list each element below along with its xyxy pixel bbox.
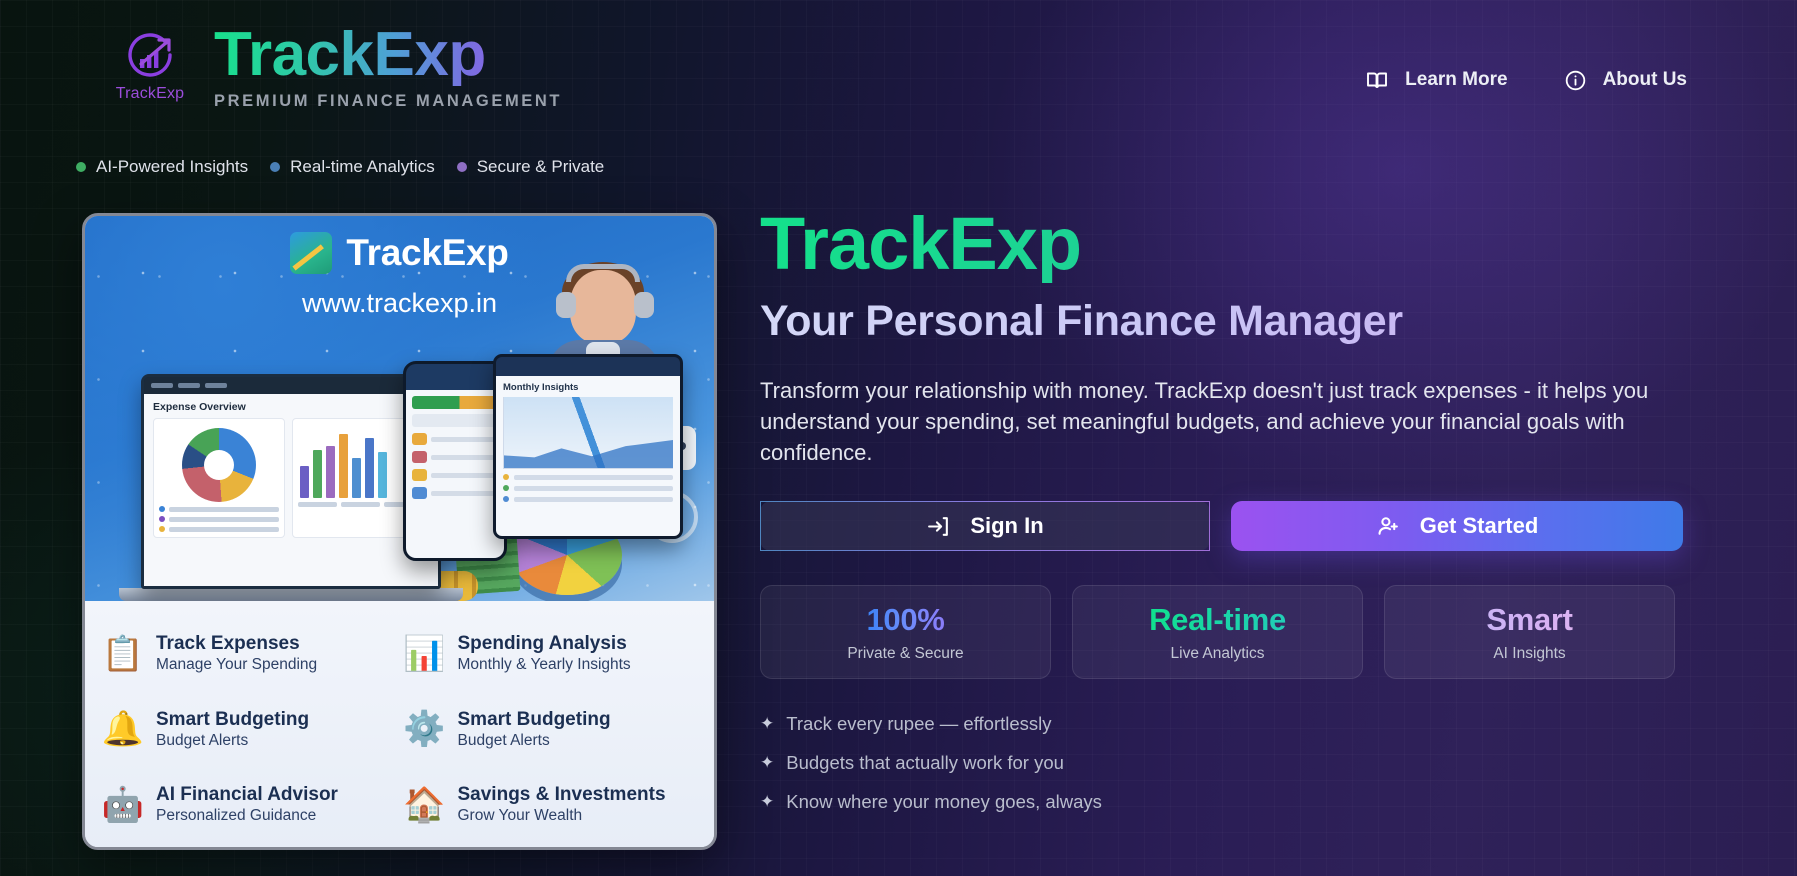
clipboard-icon: 📋: [101, 637, 145, 671]
hero-paragraph: Transform your relationship with money. …: [760, 375, 1660, 469]
book-icon: [1365, 68, 1389, 92]
feature-pills: AI-Powered Insights Real-time Analytics …: [76, 157, 604, 177]
tablet-dashboard-title: Monthly Insights: [503, 382, 673, 393]
promo-feature-item: 🤖 AI Financial Advisor Personalized Guid…: [101, 770, 397, 840]
promo-feature-title: Smart Budgeting: [156, 709, 309, 730]
promo-feature-title: Spending Analysis: [458, 633, 627, 654]
main-nav: Learn More About Us: [1365, 68, 1687, 92]
hero-section: TrackExp Your Personal Finance Manager T…: [760, 205, 1690, 813]
list-item: ✦ Budgets that actually work for you: [760, 752, 1690, 774]
stat-value: Real-time: [1149, 602, 1286, 638]
laptop-dashboard-title: Expense Overview: [153, 401, 429, 413]
promo-feature-item: ⚙️ Smart Budgeting Budget Alerts: [403, 695, 699, 765]
promo-feature-sub: Personalized Guidance: [156, 807, 338, 826]
promo-feature-grid: 📋 Track Expenses Manage Your Spending 📊 …: [85, 601, 714, 850]
pill-ai-powered-insights: AI-Powered Insights: [76, 157, 248, 177]
logo-wordmark: TrackExp: [116, 85, 185, 103]
stat-label: Private & Secure: [847, 645, 963, 663]
donut-chart: [182, 428, 256, 502]
promo-logo-icon: [290, 232, 332, 274]
stat-value: Smart: [1486, 602, 1572, 638]
stat-card-live-analytics: Real-time Live Analytics: [1072, 585, 1363, 679]
sign-in-button[interactable]: Sign In: [760, 501, 1210, 551]
page-header: TrackExp TrackExp PREMIUM FINANCE MANAGE…: [0, 0, 1797, 140]
promo-feature-sub: Grow Your Wealth: [458, 807, 666, 826]
brand-subtitle: PREMIUM FINANCE MANAGEMENT: [214, 92, 562, 111]
promo-feature-title: Savings & Investments: [458, 784, 666, 805]
bar-chart-icon: 📊: [403, 637, 447, 671]
get-started-label: Get Started: [1420, 513, 1539, 539]
promo-feature-sub: Budget Alerts: [156, 732, 309, 751]
nav-learn-more-label: Learn More: [1405, 69, 1507, 91]
laptop-base: [119, 588, 463, 601]
promo-image: TrackExp www.trackexp.in Expense Overvie…: [82, 213, 717, 850]
page-title: TrackExp: [214, 24, 562, 86]
promo-feature-sub: Monthly & Yearly Insights: [458, 656, 631, 675]
promo-feature-item: 📊 Spending Analysis Monthly & Yearly Ins…: [403, 619, 699, 689]
list-item: ✦ Track every rupee — effortlessly: [760, 713, 1690, 735]
stat-label: Live Analytics: [1171, 645, 1265, 663]
bullet-text: Know where your money goes, always: [786, 791, 1102, 813]
pill-secure-private: Secure & Private: [457, 157, 605, 177]
sparkle-icon: ✦: [760, 792, 774, 812]
promo-feature-title: AI Financial Advisor: [156, 784, 338, 805]
stat-card-ai-insights: Smart AI Insights: [1384, 585, 1675, 679]
phone-mockup: [403, 361, 507, 561]
user-plus-icon: [1376, 514, 1401, 539]
laptop-mockup: Expense Overview: [141, 374, 441, 589]
pill-label: Real-time Analytics: [290, 157, 435, 177]
hero-subtitle: Your Personal Finance Manager: [760, 297, 1690, 346]
cta-row: Sign In Get Started: [760, 501, 1690, 551]
promo-feature-item: 📋 Track Expenses Manage Your Spending: [101, 619, 397, 689]
gear-icon: ⚙️: [403, 712, 447, 746]
sparkle-icon: ✦: [760, 753, 774, 773]
promo-feature-sub: Budget Alerts: [458, 732, 611, 751]
bullet-text: Track every rupee — effortlessly: [786, 713, 1051, 735]
bell-icon: 🔔: [101, 712, 145, 746]
chart-circle-arrow-icon: [122, 31, 178, 83]
nav-learn-more[interactable]: Learn More: [1365, 68, 1507, 92]
robot-icon: 🤖: [101, 788, 145, 822]
pill-label: Secure & Private: [477, 157, 605, 177]
status-dot: [457, 162, 467, 172]
promo-banner: TrackExp www.trackexp.in Expense Overvie…: [85, 216, 714, 601]
hero-bullet-list: ✦ Track every rupee — effortlessly ✦ Bud…: [760, 713, 1690, 813]
bullet-text: Budgets that actually work for you: [786, 752, 1064, 774]
get-started-button[interactable]: Get Started: [1231, 501, 1683, 551]
list-item: ✦ Know where your money goes, always: [760, 791, 1690, 813]
sparkle-icon: ✦: [760, 714, 774, 734]
area-chart: [503, 397, 673, 469]
promo-feature-sub: Manage Your Spending: [156, 656, 317, 675]
sign-in-label: Sign In: [970, 513, 1043, 539]
promo-feature-title: Track Expenses: [156, 633, 300, 654]
pill-label: AI-Powered Insights: [96, 157, 248, 177]
info-circle-icon: [1564, 69, 1587, 92]
nav-about-us[interactable]: About Us: [1564, 69, 1687, 92]
promo-feature-item: 🏠 Savings & Investments Grow Your Wealth: [403, 770, 699, 840]
brand: TrackExp TrackExp PREMIUM FINANCE MANAGE…: [104, 22, 562, 111]
logo-mark[interactable]: TrackExp: [104, 31, 196, 103]
stat-card-private-secure: 100% Private & Secure: [760, 585, 1051, 679]
status-dot: [270, 162, 280, 172]
status-dot: [76, 162, 86, 172]
stat-value: 100%: [866, 602, 944, 638]
house-icon: 🏠: [403, 788, 447, 822]
promo-logo-text: TrackExp: [346, 232, 508, 274]
promo-feature-item: 🔔 Smart Budgeting Budget Alerts: [101, 695, 397, 765]
hero-title: TrackExp: [760, 205, 1690, 283]
brand-text: TrackExp PREMIUM FINANCE MANAGEMENT: [214, 22, 562, 111]
tablet-mockup: Monthly Insights: [493, 354, 683, 539]
pill-real-time-analytics: Real-time Analytics: [270, 157, 435, 177]
stats-row: 100% Private & Secure Real-time Live Ana…: [760, 585, 1690, 679]
promo-feature-title: Smart Budgeting: [458, 709, 611, 730]
stat-label: AI Insights: [1493, 645, 1565, 663]
login-arrow-icon: [926, 514, 951, 539]
nav-about-us-label: About Us: [1603, 69, 1687, 91]
